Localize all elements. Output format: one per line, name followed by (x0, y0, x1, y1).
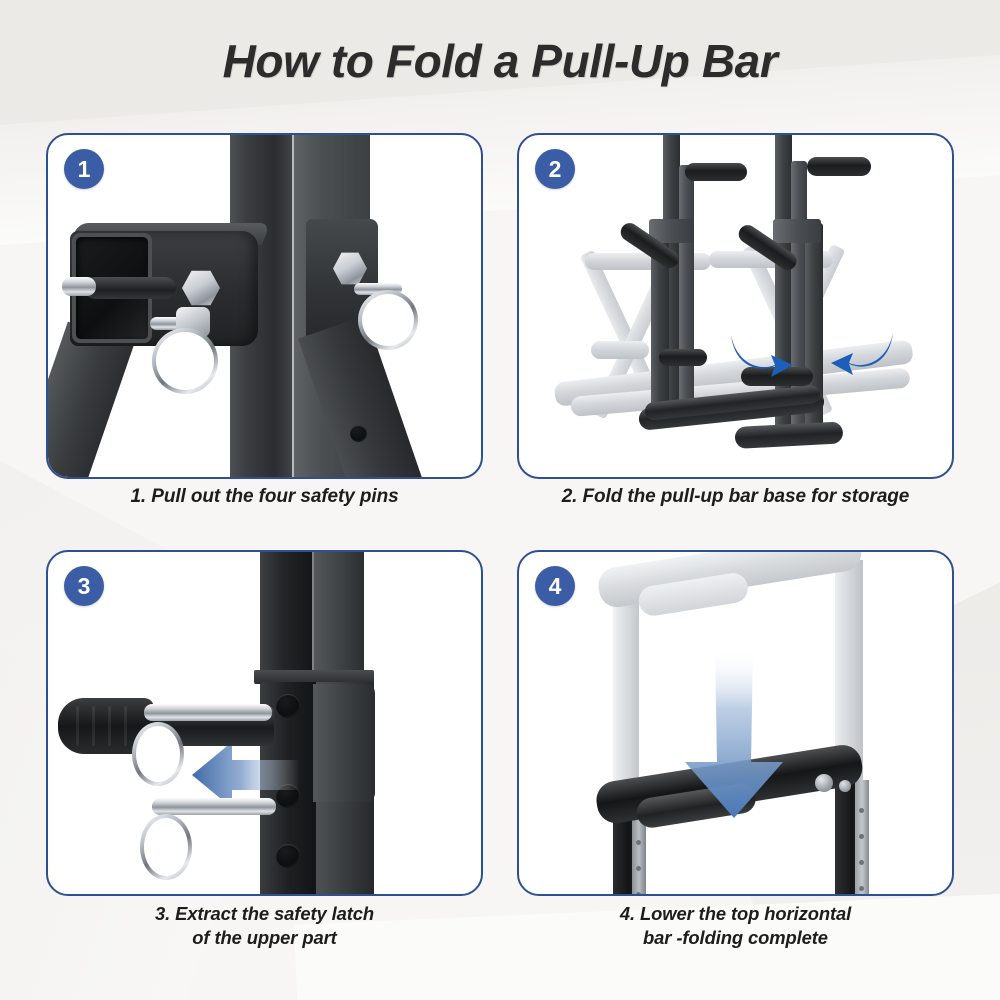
infographic-page: How to Fold a Pull-Up Bar (0, 0, 1000, 1000)
step-caption-1: 1. Pull out the four safety pins (46, 485, 483, 509)
post-hole-r3 (859, 860, 864, 865)
step-illustration-1 (48, 135, 481, 477)
ghost-crossbar-mid (591, 341, 649, 359)
page-title: How to Fold a Pull-Up Bar (0, 34, 1000, 88)
post-hole-r4 (859, 886, 864, 891)
step-4: 4 4. Lower the top horizontal bar -foldi… (517, 550, 954, 967)
step-badge-4: 4 (535, 566, 575, 606)
right-top-grip (807, 157, 871, 176)
fold-arrow-left (727, 325, 797, 385)
step-caption-2: 2. Fold the pull-up bar base for storage (517, 485, 954, 509)
step-caption-4-line1: 4. Lower the top horizontal (517, 902, 954, 926)
top-bar-bolt-a (815, 774, 833, 792)
left-top-grip (685, 163, 747, 181)
latch-pin-upper (144, 704, 272, 721)
adjustment-hole (350, 425, 367, 442)
lower-arrow (679, 650, 789, 820)
folded-foot-bar-right (734, 421, 843, 449)
step-caption-4-line2: bar -folding complete (517, 926, 954, 950)
top-bar-bolt-b (839, 780, 851, 792)
latch-ring-lower (140, 814, 192, 880)
step-caption-3-line1: 3. Extract the safety latch (46, 902, 483, 926)
upper-post-front (260, 552, 312, 688)
step-badge-3: 3 (64, 566, 104, 606)
step-card-3: 3 (46, 550, 483, 896)
inner-pin-shaft (84, 277, 176, 299)
pull-ring-left (152, 328, 218, 394)
post-hole-l2 (636, 840, 641, 845)
upper-post-side (312, 552, 364, 688)
post-sleeve (313, 684, 375, 802)
latch-hole-lower (276, 844, 300, 868)
post-hole-l4 (636, 892, 641, 894)
post-hole-r2 (859, 834, 864, 839)
step-illustration-4 (519, 552, 952, 894)
right-bracket-plate (773, 219, 821, 243)
pull-ring-right (358, 290, 418, 350)
step-badge-1: 1 (64, 149, 104, 189)
left-upright-inner (679, 165, 694, 421)
step-2: 2 2. Fold the pull-up bar base for stora… (517, 133, 954, 550)
step-illustration-2 (519, 135, 952, 477)
latch-hole-upper (276, 694, 300, 718)
step-3: 3 3. Extract the safety latch of the upp… (46, 550, 483, 967)
step-card-4: 4 (517, 550, 954, 896)
step-card-2: 2 (517, 133, 954, 479)
latch-ring-upper (132, 722, 184, 786)
inner-pin-tip (62, 277, 96, 296)
step-illustration-3 (48, 552, 481, 894)
step-caption-4: 4. Lower the top horizontal bar -folding… (517, 902, 954, 949)
post-hole-r1 (859, 808, 864, 813)
post-hole-l3 (636, 866, 641, 871)
step-badge-2: 2 (535, 149, 575, 189)
step-caption-3: 3. Extract the safety latch of the upper… (46, 902, 483, 949)
step-1: 1 1. Pull out the four safety pins (46, 133, 483, 550)
fold-arrow-right (827, 323, 897, 383)
steps-grid: 1 1. Pull out the four safety pins (46, 133, 954, 967)
latch-pin-lower (152, 798, 276, 815)
right-upright-main (775, 135, 792, 431)
left-lower-grip (659, 349, 707, 366)
step-card-1: 1 (46, 133, 483, 479)
step-caption-3-line2: of the upper part (46, 926, 483, 950)
